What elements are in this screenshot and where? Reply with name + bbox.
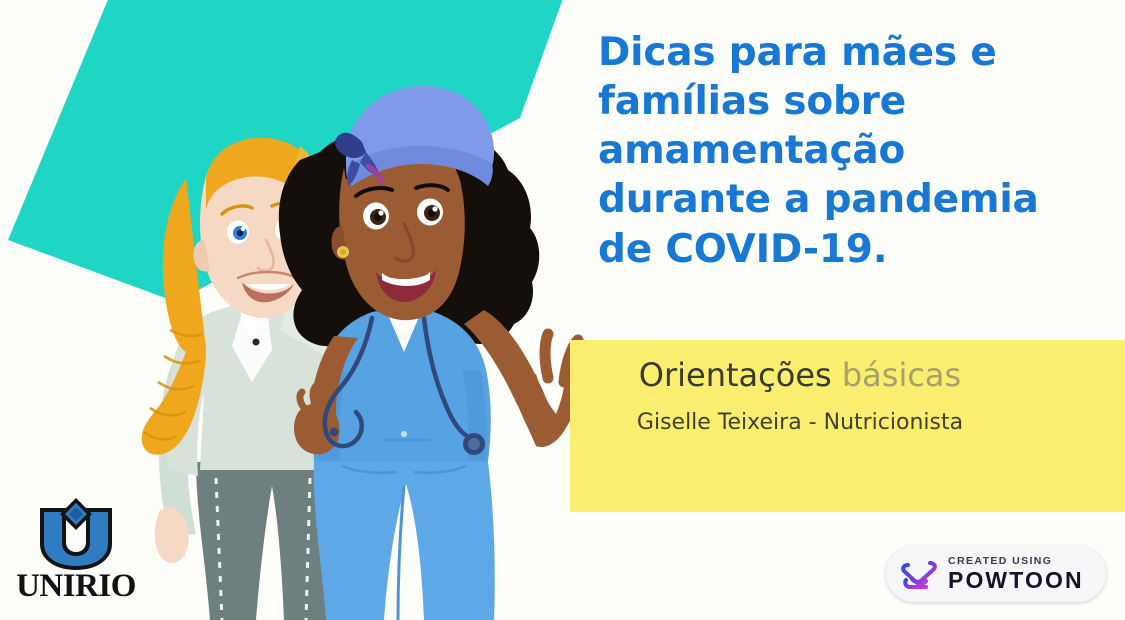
powtoon-badge-text: CREATED USING POWTOON — [948, 556, 1084, 593]
headline-line-3: amamentação — [598, 126, 1103, 175]
panel-title: Orientações básicas — [570, 356, 1030, 394]
powtoon-brand-label: POWTOON — [948, 569, 1084, 592]
slide-headline: Dicas para mães e famílias sobre amament… — [598, 28, 1103, 274]
powtoon-logo-icon — [900, 556, 940, 592]
panel-title-light: básicas — [842, 356, 961, 394]
unirio-wordmark: UNIRIO — [14, 568, 138, 605]
powtoon-created-label: CREATED USING — [948, 556, 1084, 567]
headline-line-1: Dicas para mães e — [598, 28, 1103, 77]
panel-subtitle: Giselle Teixeira - Nutricionista — [570, 410, 1030, 435]
powtoon-badge[interactable]: CREATED USING POWTOON — [886, 546, 1106, 602]
panel-title-strong: Orientações — [639, 356, 832, 394]
headline-line-5: de COVID-19. — [598, 225, 1103, 274]
presentation-slide: Dicas para mães e famílias sobre amament… — [0, 0, 1125, 620]
unirio-logo: UNIRIO — [14, 498, 138, 608]
unirio-mark-icon — [14, 498, 138, 570]
headline-line-4: durante a pandemia — [598, 175, 1103, 224]
character-nurse — [279, 86, 585, 620]
subtitle-panel: Orientações básicas Giselle Teixeira - N… — [570, 340, 1125, 512]
headline-line-2: famílias sobre — [598, 77, 1103, 126]
